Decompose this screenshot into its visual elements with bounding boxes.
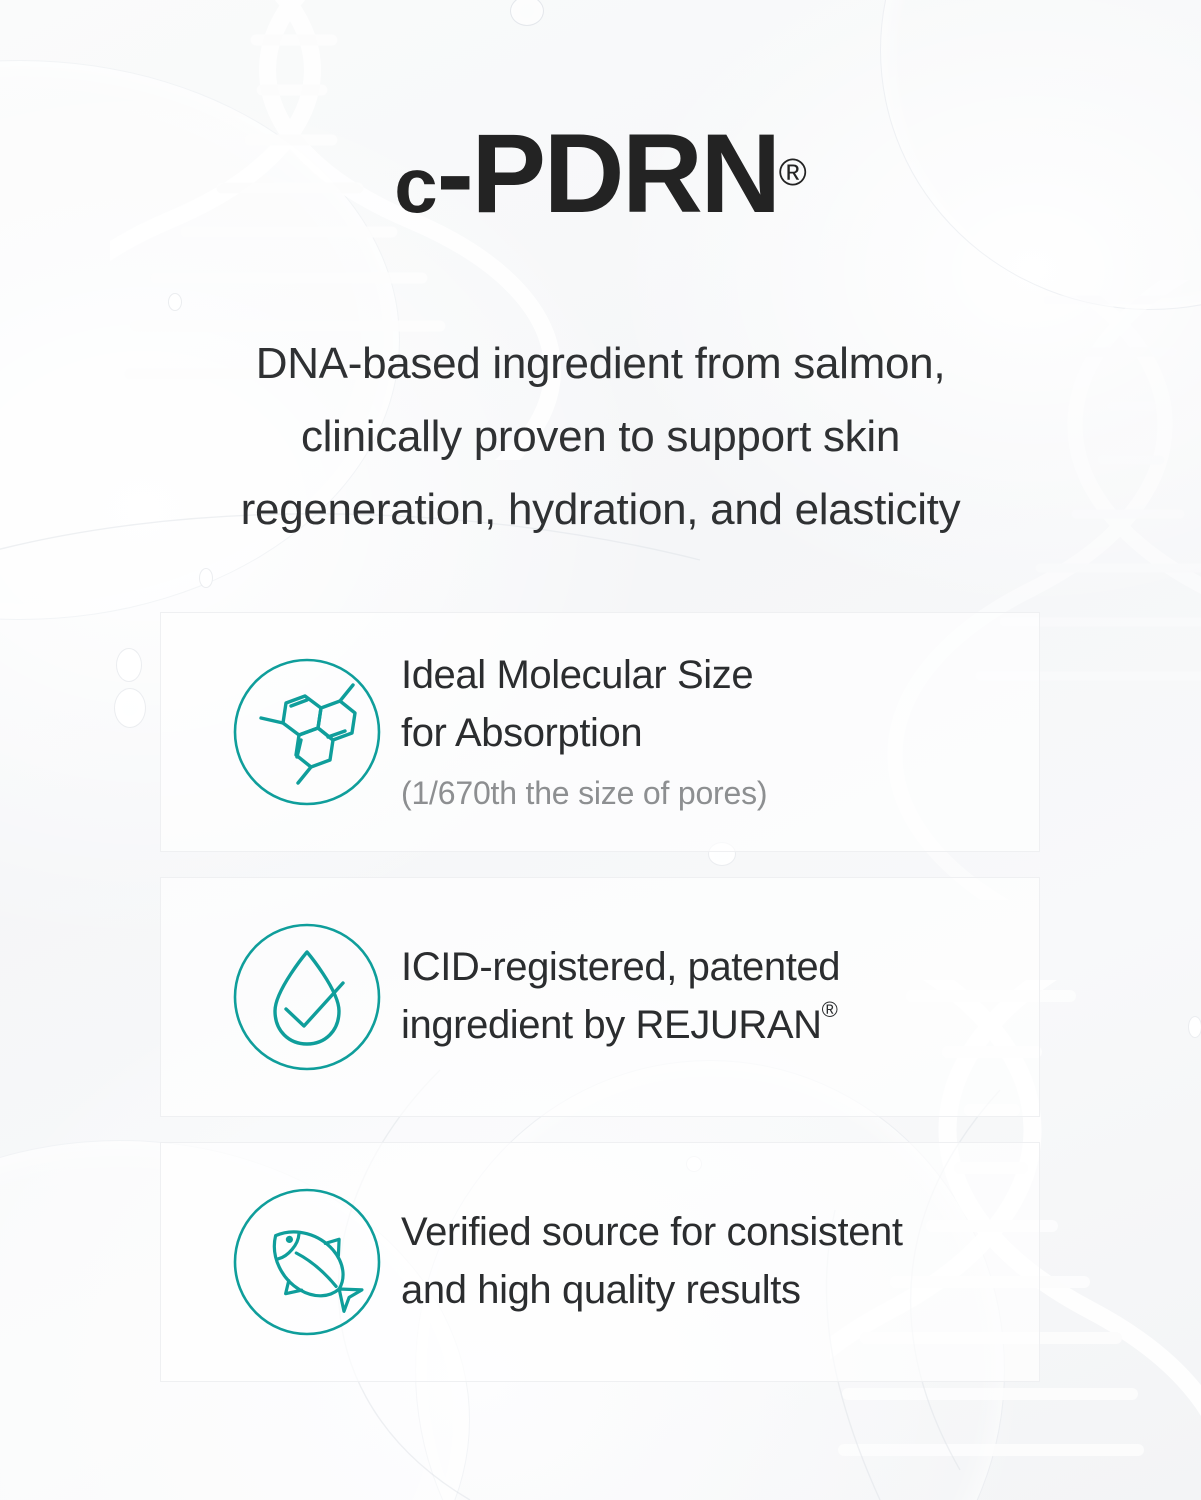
page-title: c-PDRN®: [0, 118, 1201, 230]
registered-trademark-icon: ®: [822, 997, 838, 1022]
feature-card-line-2: and high quality results: [401, 1262, 1039, 1320]
feature-card-line-1: Ideal Molecular Size: [401, 647, 1039, 705]
salmon-fish-icon: [231, 1186, 383, 1338]
feature-card-text: Verified source for consistent and high …: [401, 1204, 1039, 1319]
feature-card-line-1: ICID-registered, patented: [401, 939, 1039, 997]
page-subtitle: DNA-based ingredient from salmon, clinic…: [151, 327, 1051, 546]
feature-card-line-2: for Absorption: [401, 705, 1039, 763]
feature-card-line-1: Verified source for consistent: [401, 1204, 1039, 1262]
feature-card-subtext: (1/670th the size of pores): [401, 769, 1039, 817]
feature-card-text: ICID-registered, patented ingredient by …: [401, 939, 1039, 1054]
page-subtitle-line-2: clinically proven to support skin: [151, 400, 1051, 473]
feature-card-icid-registered[interactable]: ICID-registered, patented ingredient by …: [160, 877, 1040, 1117]
feature-card-text: Ideal Molecular Size for Absorption (1/6…: [401, 647, 1039, 816]
feature-card-line-2: ingredient by REJURAN®: [401, 997, 1039, 1055]
molecule-icon: [231, 656, 383, 808]
feature-card-list: Ideal Molecular Size for Absorption (1/6…: [160, 612, 1040, 1382]
page-title-prefix: c: [394, 141, 436, 229]
water-drop-check-icon: [231, 921, 383, 1073]
page-title-main: -PDRN: [437, 111, 779, 236]
feature-card-verified-source[interactable]: Verified source for consistent and high …: [160, 1142, 1040, 1382]
feature-card-molecular-size[interactable]: Ideal Molecular Size for Absorption (1/6…: [160, 612, 1040, 852]
page-subtitle-line-1: DNA-based ingredient from salmon,: [151, 327, 1051, 400]
registered-trademark-icon: ®: [779, 152, 807, 194]
infographic-content: c-PDRN® DNA-based ingredient from salmon…: [0, 0, 1201, 1500]
feature-card-line-2-text: ingredient by REJURAN: [401, 1003, 822, 1047]
page-subtitle-line-3: regeneration, hydration, and elasticity: [151, 473, 1051, 546]
